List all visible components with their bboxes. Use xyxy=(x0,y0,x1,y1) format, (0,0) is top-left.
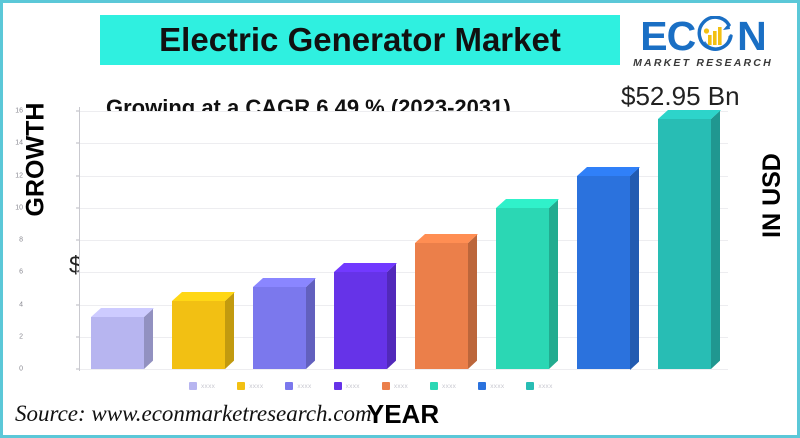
bar-side-face xyxy=(468,235,477,369)
y-axis-title-right: IN USD xyxy=(758,153,787,238)
bar[interactable] xyxy=(415,243,468,369)
legend-label: xxxx xyxy=(538,383,552,390)
y-tick-mark xyxy=(76,111,79,112)
plot-area: 0246810121416 xyxy=(80,111,728,369)
legend-swatch xyxy=(237,382,245,390)
y-tick-label: 6 xyxy=(0,269,23,276)
bar-top-face xyxy=(91,308,154,317)
econ-logo: E C N MARKET RESEARCH xyxy=(623,11,783,73)
bar-top-face xyxy=(253,278,316,287)
circular-bar-chart-swoosh-icon xyxy=(696,16,736,56)
bar-side-face xyxy=(225,293,234,369)
bar-front-face xyxy=(334,272,387,369)
legend-item[interactable]: xxxx xyxy=(189,382,215,390)
bar[interactable] xyxy=(172,301,225,369)
y-tick-mark xyxy=(76,175,79,176)
bar-side-face xyxy=(630,167,639,369)
legend-item[interactable]: xxxx xyxy=(382,382,408,390)
gridline xyxy=(80,143,728,144)
bar-front-face xyxy=(415,243,468,369)
legend-label: xxxx xyxy=(346,383,360,390)
bar-side-face xyxy=(144,309,153,369)
logo-letter-c: C xyxy=(667,17,696,55)
bar-top-face xyxy=(334,263,397,272)
bar[interactable] xyxy=(496,208,549,369)
bar-front-face xyxy=(577,176,630,370)
legend-item[interactable]: xxxx xyxy=(334,382,360,390)
legend-item[interactable]: xxxx xyxy=(237,382,263,390)
y-tick-label: 0 xyxy=(0,366,23,373)
legend-swatch xyxy=(526,382,534,390)
legend-item[interactable]: xxxx xyxy=(526,382,552,390)
bar-top-face xyxy=(496,199,559,208)
y-tick-mark xyxy=(76,240,79,241)
y-tick-mark xyxy=(76,369,79,370)
title-band: Electric Generator Market xyxy=(100,15,620,65)
y-tick-mark xyxy=(76,304,79,305)
y-tick-label: 4 xyxy=(0,301,23,308)
bar-front-face xyxy=(658,119,711,369)
bar-side-face xyxy=(711,111,720,369)
y-tick-mark xyxy=(76,336,79,337)
x-axis-title: YEAR xyxy=(367,399,439,430)
y-tick-label: 14 xyxy=(0,140,23,147)
bar-top-face xyxy=(415,234,478,243)
y-tick-label: 12 xyxy=(0,172,23,179)
bar-side-face xyxy=(387,264,396,369)
legend-swatch xyxy=(478,382,486,390)
legend-swatch xyxy=(285,382,293,390)
gridline xyxy=(80,369,728,370)
legend-label: xxxx xyxy=(442,383,456,390)
legend-label: xxxx xyxy=(201,383,215,390)
legend-swatch xyxy=(430,382,438,390)
y-tick-label: 10 xyxy=(0,204,23,211)
y-tick-mark xyxy=(76,272,79,273)
y-tick-label: 16 xyxy=(0,108,23,115)
logo-letter-n: N xyxy=(737,17,766,55)
logo-tagline: MARKET RESEARCH xyxy=(633,57,773,69)
legend-item[interactable]: xxxx xyxy=(430,382,456,390)
end-value-label: $52.95 Bn xyxy=(621,81,740,112)
logo-wordmark: E C N xyxy=(640,16,766,56)
bar[interactable] xyxy=(658,119,711,369)
legend-label: xxxx xyxy=(297,383,311,390)
legend-item[interactable]: xxxx xyxy=(285,382,311,390)
bar-front-face xyxy=(91,317,144,369)
legend-swatch xyxy=(189,382,197,390)
legend-label: xxxx xyxy=(394,383,408,390)
legend-label: xxxx xyxy=(249,383,263,390)
y-tick-mark xyxy=(76,207,79,208)
y-tick-label: 8 xyxy=(0,237,23,244)
gridline xyxy=(80,111,728,112)
legend-swatch xyxy=(334,382,342,390)
logo-letter-e: E xyxy=(640,17,666,55)
bar-side-face xyxy=(306,278,315,369)
bar-front-face xyxy=(496,208,549,369)
bar[interactable] xyxy=(577,176,630,370)
bar-top-face xyxy=(577,167,640,176)
bar-top-face xyxy=(172,292,235,301)
bar-front-face xyxy=(172,301,225,369)
page-title: Electric Generator Market xyxy=(159,21,561,59)
chart-frame: Electric Generator Market E C N MARKET R… xyxy=(0,0,800,438)
legend-swatch xyxy=(382,382,390,390)
bar-side-face xyxy=(549,199,558,369)
legend-item[interactable]: xxxx xyxy=(478,382,504,390)
legend-label: xxxx xyxy=(490,383,504,390)
bar[interactable] xyxy=(334,272,387,369)
bar-front-face xyxy=(253,287,306,369)
y-axis-line xyxy=(79,107,80,371)
y-axis-title: GROWTH xyxy=(21,103,50,217)
y-tick-label: 2 xyxy=(0,333,23,340)
y-tick-mark xyxy=(76,143,79,144)
bar[interactable] xyxy=(91,317,144,369)
bar[interactable] xyxy=(253,287,306,369)
source-caption: Source: www.econmarketresearch.com xyxy=(15,401,372,427)
chart-legend: xxxxxxxxxxxxxxxxxxxxxxxxxxxxxxxx xyxy=(189,379,759,393)
bar-top-face xyxy=(658,110,721,119)
